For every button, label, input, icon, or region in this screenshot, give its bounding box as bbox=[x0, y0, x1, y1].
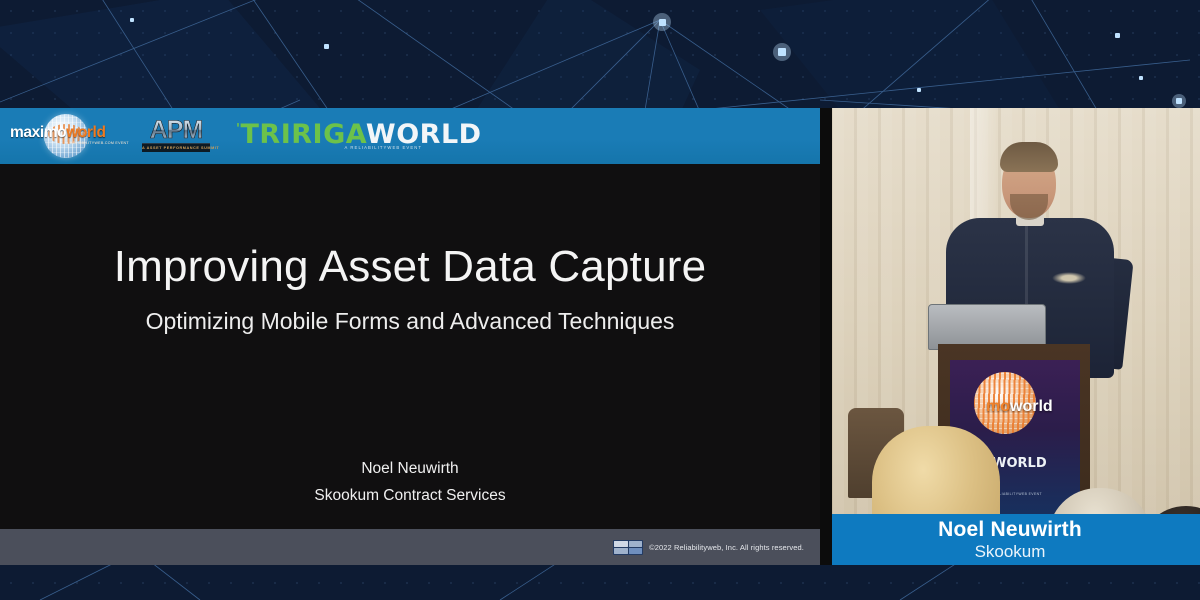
presentation-viewer: maximoworld A RELIABILITYWEB.COM EVENT A… bbox=[0, 0, 1200, 600]
apm-logo-text: APM bbox=[142, 117, 210, 143]
speaker-hair bbox=[1000, 142, 1058, 172]
slide-logo-bar: maximoworld A RELIABILITYWEB.COM EVENT A… bbox=[0, 108, 820, 164]
maximoworld-logo-tagline: A RELIABILITYWEB.COM EVENT bbox=[66, 141, 129, 145]
slide-presenter-name: Noel Neuwirth bbox=[0, 460, 820, 478]
speaker-video-feed[interactable]: moworld GAWORLD A RELIABILITYWEB EVENT bbox=[820, 108, 1200, 565]
podium-maximo-partial: mo bbox=[986, 398, 1010, 415]
slide-surface[interactable]: maximoworld A RELIABILITYWEB.COM EVENT A… bbox=[0, 108, 820, 565]
podium-tririga-world-partial: WORLD bbox=[992, 456, 1046, 471]
tririgaworld-logo-tagline: A RELIABILITYWEB EVENT bbox=[345, 145, 423, 150]
maximoworld-logo-text-primary: maximo bbox=[10, 124, 66, 141]
copyright-text: ©2022 Reliabilityweb, Inc. All rights re… bbox=[649, 543, 804, 552]
slide-title: Improving Asset Data Capture bbox=[0, 242, 820, 292]
speaker-name: Noel Neuwirth bbox=[938, 518, 1082, 542]
speaker-name-banner: Noel Neuwirth Skookum bbox=[820, 514, 1200, 565]
video-left-edge bbox=[820, 108, 832, 565]
slide-content: Improving Asset Data Capture Optimizing … bbox=[0, 164, 820, 529]
slide-presenter-organization: Skookum Contract Services bbox=[0, 487, 820, 505]
tririgaworld-logo: 'TRIRIGAWORLD A RELIABILITYWEB EVENT bbox=[236, 116, 426, 156]
reliabilityweb-badge-icon bbox=[613, 540, 643, 555]
podium-world-partial: world bbox=[1010, 398, 1053, 415]
slide-subtitle: Optimizing Mobile Forms and Advanced Tec… bbox=[0, 308, 820, 335]
maximoworld-logo: maximoworld A RELIABILITYWEB.COM EVENT bbox=[10, 113, 116, 159]
slide-footer: ©2022 Reliabilityweb, Inc. All rights re… bbox=[0, 529, 820, 565]
apm-logo: APM A ASSET PERFORMANCE SUMMIT bbox=[142, 117, 210, 155]
maximoworld-logo-text: maximoworld bbox=[10, 125, 116, 141]
speaker-organization: Skookum bbox=[975, 542, 1046, 562]
maximoworld-logo-text-secondary: world bbox=[66, 124, 105, 141]
jacket-emblem-icon bbox=[1052, 272, 1086, 284]
podium-maximoworld-text: moworld bbox=[986, 398, 1053, 416]
apm-logo-tagline: A ASSET PERFORMANCE SUMMIT bbox=[142, 143, 210, 152]
banner-left-notch bbox=[820, 514, 832, 565]
